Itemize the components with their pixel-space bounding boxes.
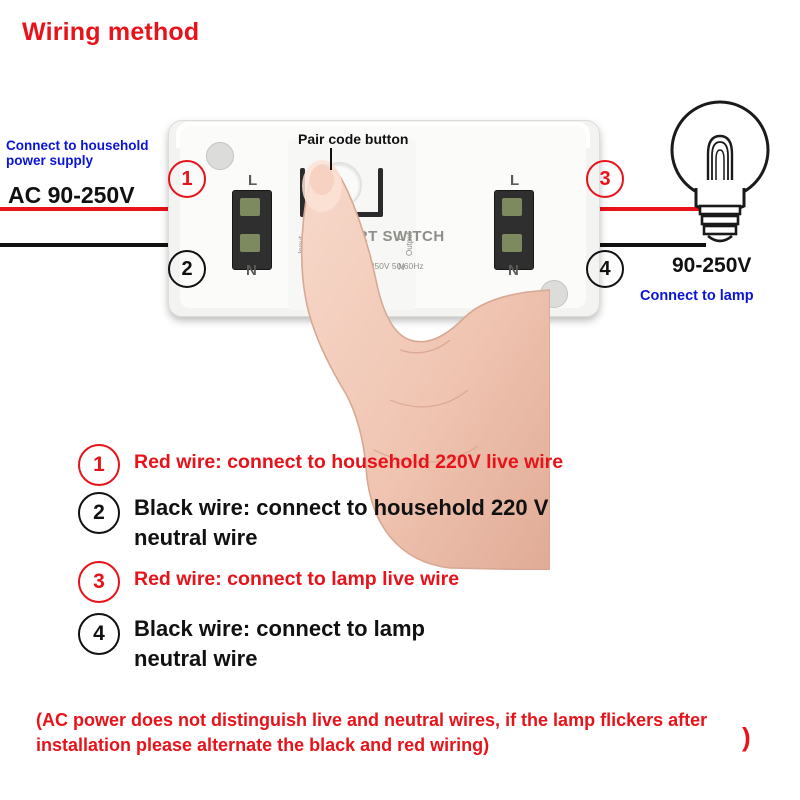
legend-badge-4: 4 bbox=[78, 613, 120, 655]
list-item: 1 Red wire: connect to household 220V li… bbox=[78, 444, 778, 486]
footer-note: (AC power does not distinguish live and … bbox=[36, 708, 776, 758]
legend-badge-3: 3 bbox=[78, 561, 120, 603]
right-connection-label: Connect to lamp bbox=[640, 288, 754, 304]
callout-1: 1 bbox=[168, 160, 206, 198]
legend-badge-1: 1 bbox=[78, 444, 120, 486]
legend-list: 1 Red wire: connect to household 220V li… bbox=[78, 444, 778, 680]
list-item: 3 Red wire: connect to lamp live wire bbox=[78, 561, 778, 603]
list-item: 2 Black wire: connect to household 220 V… bbox=[78, 492, 778, 553]
light-bulb-icon bbox=[660, 88, 780, 268]
left-connection-label: Connect to household power supply bbox=[6, 138, 176, 168]
callout-3: 3 bbox=[586, 160, 624, 198]
mounting-screw-left bbox=[206, 142, 234, 170]
pair-code-leader-line bbox=[330, 148, 332, 170]
footer-note-close-paren: ) bbox=[742, 722, 751, 753]
callout-2: 2 bbox=[168, 250, 206, 288]
right-voltage-label: 90-250V bbox=[672, 254, 751, 278]
legend-badge-2: 2 bbox=[78, 492, 120, 534]
left-voltage-label: AC 90-250V bbox=[8, 182, 135, 209]
pair-code-button-label: Pair code button bbox=[298, 131, 408, 147]
legend-text-3: Red wire: connect to lamp live wire bbox=[134, 561, 459, 593]
list-item: 4 Black wire: connect to lamp neutral wi… bbox=[78, 613, 778, 674]
callout-4: 4 bbox=[586, 250, 624, 288]
legend-text-1: Red wire: connect to household 220V live… bbox=[134, 444, 563, 476]
legend-text-2: Black wire: connect to household 220 V n… bbox=[134, 492, 604, 553]
page-title: Wiring method bbox=[22, 18, 199, 47]
legend-text-4: Black wire: connect to lamp neutral wire bbox=[134, 613, 464, 674]
